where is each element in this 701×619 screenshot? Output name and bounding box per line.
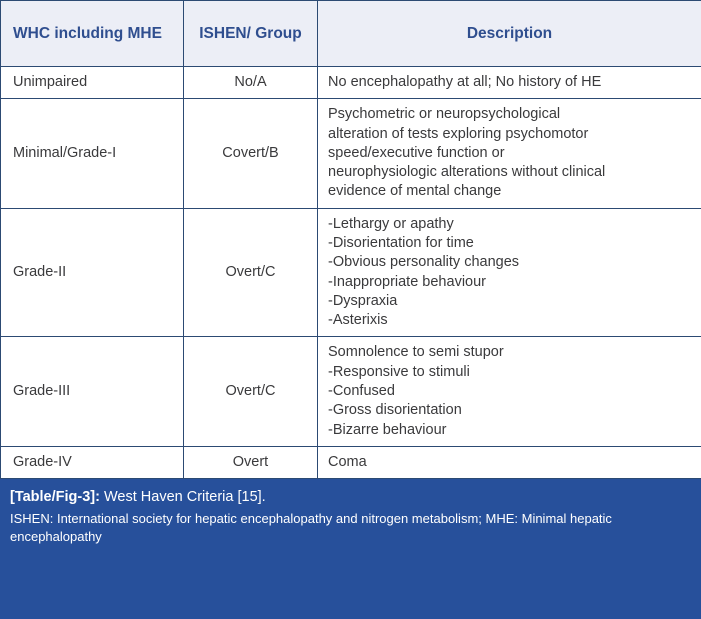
west-haven-criteria-table: WHC including MHE ISHEN/ Group Descripti… [0, 0, 701, 479]
description-line: Somnolence to semi stupor [328, 343, 692, 362]
description-line: -Inappropriate behaviour [328, 273, 692, 292]
description-line: -Dyspraxia [328, 292, 692, 311]
description-line: No encephalopathy at all; No history of … [328, 73, 692, 92]
cell-ishen-group: Covert/B [184, 99, 318, 208]
description-line: Coma [328, 453, 692, 472]
cell-whc-grade: Minimal/Grade-I [1, 99, 184, 208]
caption-title-line: [Table/Fig-3]: West Haven Criteria [15]. [10, 487, 691, 508]
table-row: UnimpairedNo/ANo encephalopathy at all; … [1, 67, 701, 99]
table-body: UnimpairedNo/ANo encephalopathy at all; … [1, 67, 701, 479]
description-line: Psychometric or neuropsychological [328, 105, 692, 124]
description-line: alteration of tests exploring psychomoto… [328, 125, 692, 144]
column-header-description: Description [318, 1, 701, 67]
cell-whc-grade: Grade-IV [1, 446, 184, 478]
description-line-list: No encephalopathy at all; No history of … [328, 73, 692, 92]
caption-tag: [Table/Fig-3]: [10, 489, 100, 505]
table-row: Grade-IIOvert/C-Lethargy or apathy-Disor… [1, 208, 701, 337]
cell-description: Psychometric or neuropsychologicalaltera… [318, 99, 701, 208]
caption-abbreviation-note: ISHEN: International society for hepatic… [10, 510, 691, 546]
description-line: speed/executive function or [328, 144, 692, 163]
cell-whc-grade: Grade-III [1, 337, 184, 446]
description-line: neurophysiologic alterations without cli… [328, 163, 692, 182]
cell-description: -Lethargy or apathy-Disorientation for t… [318, 208, 701, 337]
description-line-list: -Lethargy or apathy-Disorientation for t… [328, 215, 692, 331]
column-header-ishen-group: ISHEN/ Group [184, 1, 318, 67]
header-row: WHC including MHE ISHEN/ Group Descripti… [1, 1, 701, 67]
description-line: -Obvious personality changes [328, 253, 692, 272]
description-line: -Responsive to stimuli [328, 363, 692, 382]
cell-whc-grade: Grade-II [1, 208, 184, 337]
table-row: Grade-IVOvertComa [1, 446, 701, 478]
cell-description: No encephalopathy at all; No history of … [318, 67, 701, 99]
column-header-whc: WHC including MHE [1, 1, 184, 67]
cell-ishen-group: No/A [184, 67, 318, 99]
description-line-list: Psychometric or neuropsychologicalaltera… [328, 105, 692, 201]
description-line: -Asterixis [328, 311, 692, 330]
cell-ishen-group: Overt [184, 446, 318, 478]
description-line: evidence of mental change [328, 182, 692, 201]
figure-caption-band: [Table/Fig-3]: West Haven Criteria [15].… [0, 479, 701, 619]
description-line: -Disorientation for time [328, 234, 692, 253]
description-line-list: Coma [328, 453, 692, 472]
description-line: -Bizarre behaviour [328, 421, 692, 440]
cell-ishen-group: Overt/C [184, 208, 318, 337]
table-row: Minimal/Grade-ICovert/BPsychometric or n… [1, 99, 701, 208]
caption-title-text: West Haven Criteria [15]. [104, 489, 266, 505]
table-figure: WHC including MHE ISHEN/ Group Descripti… [0, 0, 701, 619]
description-line-list: Somnolence to semi stupor-Responsive to … [328, 343, 692, 439]
description-line: -Lethargy or apathy [328, 215, 692, 234]
description-line: -Confused [328, 382, 692, 401]
description-line: -Gross disorientation [328, 401, 692, 420]
table-row: Grade-IIIOvert/CSomnolence to semi stupo… [1, 337, 701, 446]
table-header: WHC including MHE ISHEN/ Group Descripti… [1, 1, 701, 67]
cell-ishen-group: Overt/C [184, 337, 318, 446]
cell-description: Somnolence to semi stupor-Responsive to … [318, 337, 701, 446]
cell-description: Coma [318, 446, 701, 478]
cell-whc-grade: Unimpaired [1, 67, 184, 99]
